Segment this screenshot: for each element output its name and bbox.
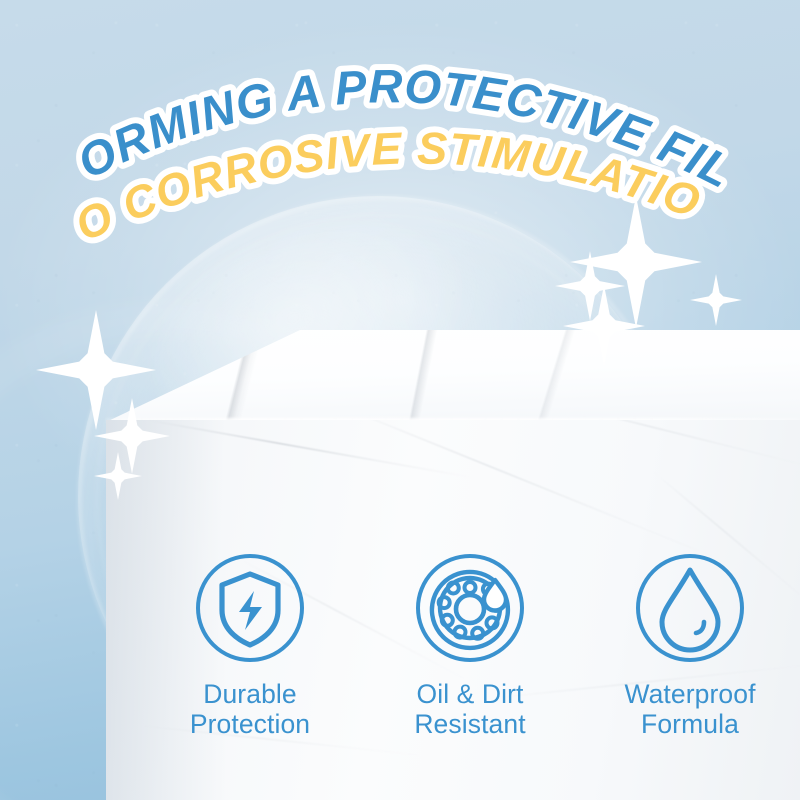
feature-oil-dirt-resistant[interactable]: Oil & Dirt Resistant	[370, 552, 570, 739]
wheel-droplet-icon	[414, 552, 526, 664]
feature-label-oil-dirt-resistant: Oil & Dirt Resistant	[414, 680, 525, 739]
feature-label-durable-protection: Durable Protection	[190, 680, 310, 739]
water-droplet-icon	[634, 552, 746, 664]
feature-waterproof-formula[interactable]: Waterproof Formula	[590, 552, 790, 739]
product-banner: FORMING A PROTECTIVE FILM FORMING A PROT…	[0, 0, 800, 800]
marble-top-veining	[0, 330, 800, 430]
feature-list: Durable Protection	[150, 552, 790, 739]
shield-bolt-icon	[194, 552, 306, 664]
feature-durable-protection[interactable]: Durable Protection	[150, 552, 350, 739]
feature-label-waterproof-formula: Waterproof Formula	[624, 680, 755, 739]
